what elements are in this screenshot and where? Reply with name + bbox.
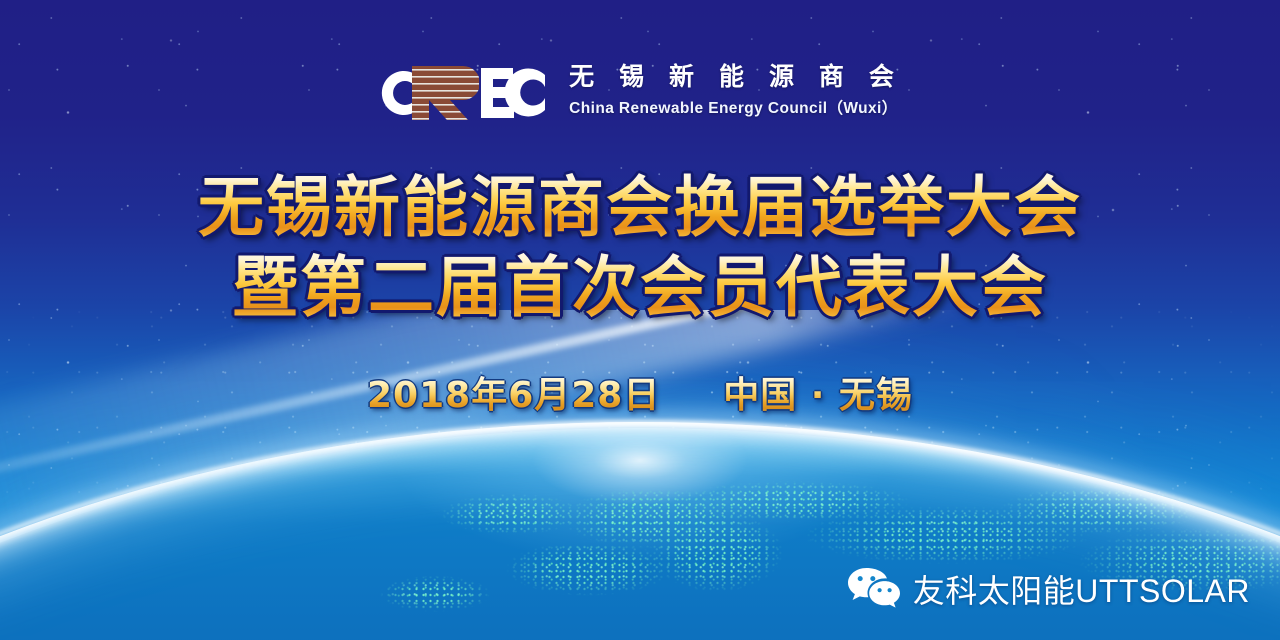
crec-logomark-icon [377,62,547,124]
event-meta: 2018年6月28日 2018年6月28日 中国 · 无锡 中国 · 无锡 [0,372,1280,420]
wechat-icon [846,566,902,612]
event-location: 中国 · 无锡 中国 · 无锡 [723,372,913,420]
event-location-fill: 中国 · 无锡 [723,375,913,416]
event-title: 无锡新能源商会换届选举大会 无锡新能源商会换届选举大会 暨第二届首次会员代表大会… [0,168,1280,328]
event-title-line-1: 无锡新能源商会换届选举大会 无锡新能源商会换届选举大会 [198,168,1082,248]
event-date-fill: 2018年6月28日 [367,375,660,416]
title-line-2-fill: 暨第二届首次会员代表大会 [232,249,1048,326]
org-name-cn: 无 锡 新 能 源 商 会 [569,64,903,91]
title-line-1-fill: 无锡新能源商会换届选举大会 [198,169,1082,246]
event-date: 2018年6月28日 2018年6月28日 [367,372,660,420]
light-streak-glow [0,310,991,578]
crec-logo-lockup: 无 锡 新 能 源 商 会 China Renewable Energy Cou… [0,62,1280,124]
wechat-account-watermark: 友科太阳能UTTSOLAR [846,566,1250,612]
crec-logo-text: 无 锡 新 能 源 商 会 China Renewable Energy Cou… [569,62,903,118]
event-title-line-2: 暨第二届首次会员代表大会 暨第二届首次会员代表大会 [232,248,1048,328]
org-name-en: China Renewable Energy Council（Wuxi） [569,96,903,118]
event-poster: 无 锡 新 能 源 商 会 China Renewable Energy Cou… [0,0,1280,640]
earth-atmosphere-glow [0,310,1280,602]
wechat-account-name: 友科太阳能UTTSOLAR [913,566,1250,612]
